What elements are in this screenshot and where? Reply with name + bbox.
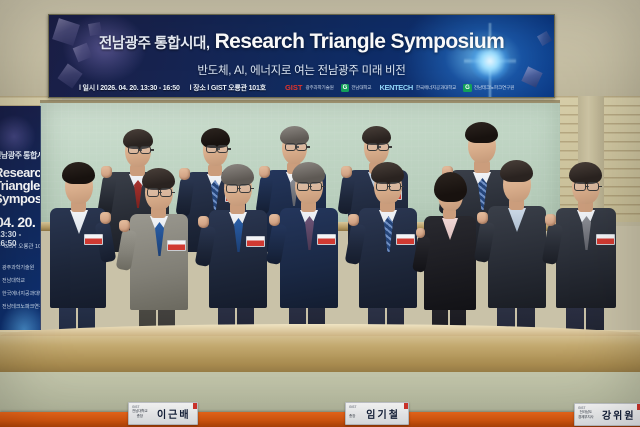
eyeglasses: [297, 182, 309, 191]
vertical-x-banner: 전남광주 통합시대, Research Triangle Symposium 0…: [0, 106, 41, 360]
stage-front-orange-rail: [0, 412, 640, 427]
placard-org: 전라남도 경제부지사: [575, 410, 597, 419]
eyeglasses: [217, 145, 228, 153]
placard-org-line1: 전라남도: [580, 410, 592, 414]
eyeglasses: [367, 143, 378, 151]
eyeglasses: [296, 143, 307, 151]
eyeglasses: [128, 146, 139, 154]
placard-name: 이근배: [151, 406, 197, 421]
eyeglasses: [285, 143, 296, 151]
raised-fist: [416, 228, 425, 238]
sponsor-logo-gist: GIST 광주과학기술원: [284, 84, 334, 92]
sponsor-logo-jnu: G 전남대학교: [341, 84, 372, 92]
xbanner-logo: 한국에너지공과대학교: [2, 290, 41, 297]
name-placard-2: GIST 총장 임기철: [345, 402, 409, 425]
hair: [500, 160, 533, 182]
placard-logo-icon: GIST: [578, 406, 585, 410]
name-badge: [317, 234, 336, 245]
name-badge: [246, 236, 265, 247]
xbanner-logo-list: 광주과학기술원 전남대학교 한국에너지공과대학교 전남테크노파크연구원: [2, 264, 41, 310]
sponsor-logo-jntp: G 전남테크노파크연구원: [463, 84, 514, 92]
kentech-logo-icon: KENTECH: [378, 84, 413, 92]
raised-fist: [341, 166, 352, 178]
gist-logo-icon: GIST: [284, 84, 304, 92]
event-banner: 전남광주 통합시대,Research Triangle Symposium 반도…: [48, 14, 555, 98]
xbanner-title-english: Research Triangle Symposium: [0, 166, 41, 205]
banner-subtitle: 반도체, AI, 에너지로 여는 전남광주 미래 비전: [49, 62, 554, 78]
raised-fist: [259, 166, 270, 178]
jnu-logo-icon: G: [341, 84, 350, 92]
hair: [569, 162, 602, 184]
banner-title-english: Research Triangle Symposium: [215, 30, 505, 53]
placard-org: 총장: [346, 409, 358, 418]
xbanner-logo: 전남테크노파크연구원: [2, 303, 41, 310]
hair: [434, 172, 467, 202]
raised-fist: [348, 214, 359, 226]
raised-fist: [269, 214, 280, 226]
name-badge: [396, 234, 415, 245]
name-badge: [84, 234, 103, 245]
hair: [465, 122, 498, 143]
eyeglasses: [587, 182, 599, 191]
sponsor-logo-kentech: KENTECH 한국에너지공과대학교: [378, 84, 456, 92]
placard-org: 전남대학교 총장: [129, 409, 151, 418]
sponsor-name: 한국에너지공과대학교: [416, 85, 456, 91]
sponsor-name: 전남대학교: [351, 85, 371, 91]
eyeglasses: [310, 182, 322, 191]
placard-red-tab: [193, 403, 197, 409]
eyeglasses: [226, 184, 238, 193]
hair: [371, 162, 404, 184]
placard-org-line2: 총장: [137, 414, 143, 418]
banner-date: l 일시 l 2026. 04. 20. 13:30 - 16:50: [79, 83, 180, 93]
eyeglasses: [140, 146, 151, 154]
hair: [142, 168, 175, 190]
photo-scene: 전남광주 통합시대,Research Triangle Symposium 반도…: [0, 0, 640, 427]
stage-desk-edge: [0, 330, 640, 378]
eyeglasses: [147, 188, 159, 197]
name-badge: [596, 234, 615, 245]
sponsor-name: 광주과학기술원: [305, 85, 333, 91]
raised-fist: [101, 166, 112, 178]
eyeglasses: [389, 182, 401, 191]
placard-name: 임기철: [358, 406, 408, 421]
banner-meta-row: l 일시 l 2026. 04. 20. 13:30 - 16:50 l 장소 …: [79, 82, 544, 94]
placard-org-line1: 전남대학교: [132, 409, 148, 413]
hair: [221, 164, 254, 186]
placard-org-line2: 총장: [349, 414, 355, 418]
raised-fist: [545, 214, 556, 226]
xbanner-logo: 광주과학기술원: [2, 264, 41, 271]
eyeglasses: [206, 145, 217, 153]
placard-logo-icon: GIST: [349, 405, 356, 409]
sponsor-name: 전남테크노파크연구원: [474, 85, 514, 91]
placard-red-tab: [404, 403, 408, 409]
xbanner-title-line3: Symposium: [0, 192, 41, 205]
raised-fist: [477, 212, 488, 224]
sponsor-logo-row: GIST 광주과학기술원 G 전남대학교 KENTECH 한국에너지공과대학교 …: [284, 84, 514, 92]
eyeglasses: [239, 184, 251, 193]
placard-name: 강위원: [597, 407, 640, 422]
eyeglasses: [378, 143, 389, 151]
raised-fist: [198, 216, 209, 228]
banner-title-row: 전남광주 통합시대,Research Triangle Symposium: [49, 31, 554, 52]
eyeglasses: [160, 188, 172, 197]
eyeglasses: [574, 182, 586, 191]
placard-logo-icon: GIST: [132, 405, 139, 409]
xbanner-title-korean: 전남광주 통합시대,: [0, 150, 40, 161]
raised-fist: [100, 212, 111, 224]
placard-org-line2: 경제부지사: [578, 415, 594, 419]
banner-venue: l 장소 l GIST 오룡관 101호: [190, 83, 266, 93]
xbanner-date: 04. 20.: [0, 214, 35, 230]
name-placard-1: GIST 전남대학교 총장 이근배: [128, 402, 198, 425]
eyeglasses: [376, 182, 388, 191]
xbanner-place: GIST 오룡관 101호: [4, 242, 41, 250]
name-placard-3: GIST 전라남도 경제부지사 강위원: [574, 403, 640, 426]
hair: [292, 162, 325, 184]
banner-title-korean: 전남광주 통합시대,: [99, 36, 210, 52]
name-badge: [167, 240, 186, 251]
hair: [62, 162, 95, 184]
raised-fist: [119, 220, 130, 232]
raised-fist: [179, 168, 190, 180]
xbanner-logo: 전남대학교: [2, 277, 41, 284]
jntp-logo-icon: G: [463, 84, 472, 92]
